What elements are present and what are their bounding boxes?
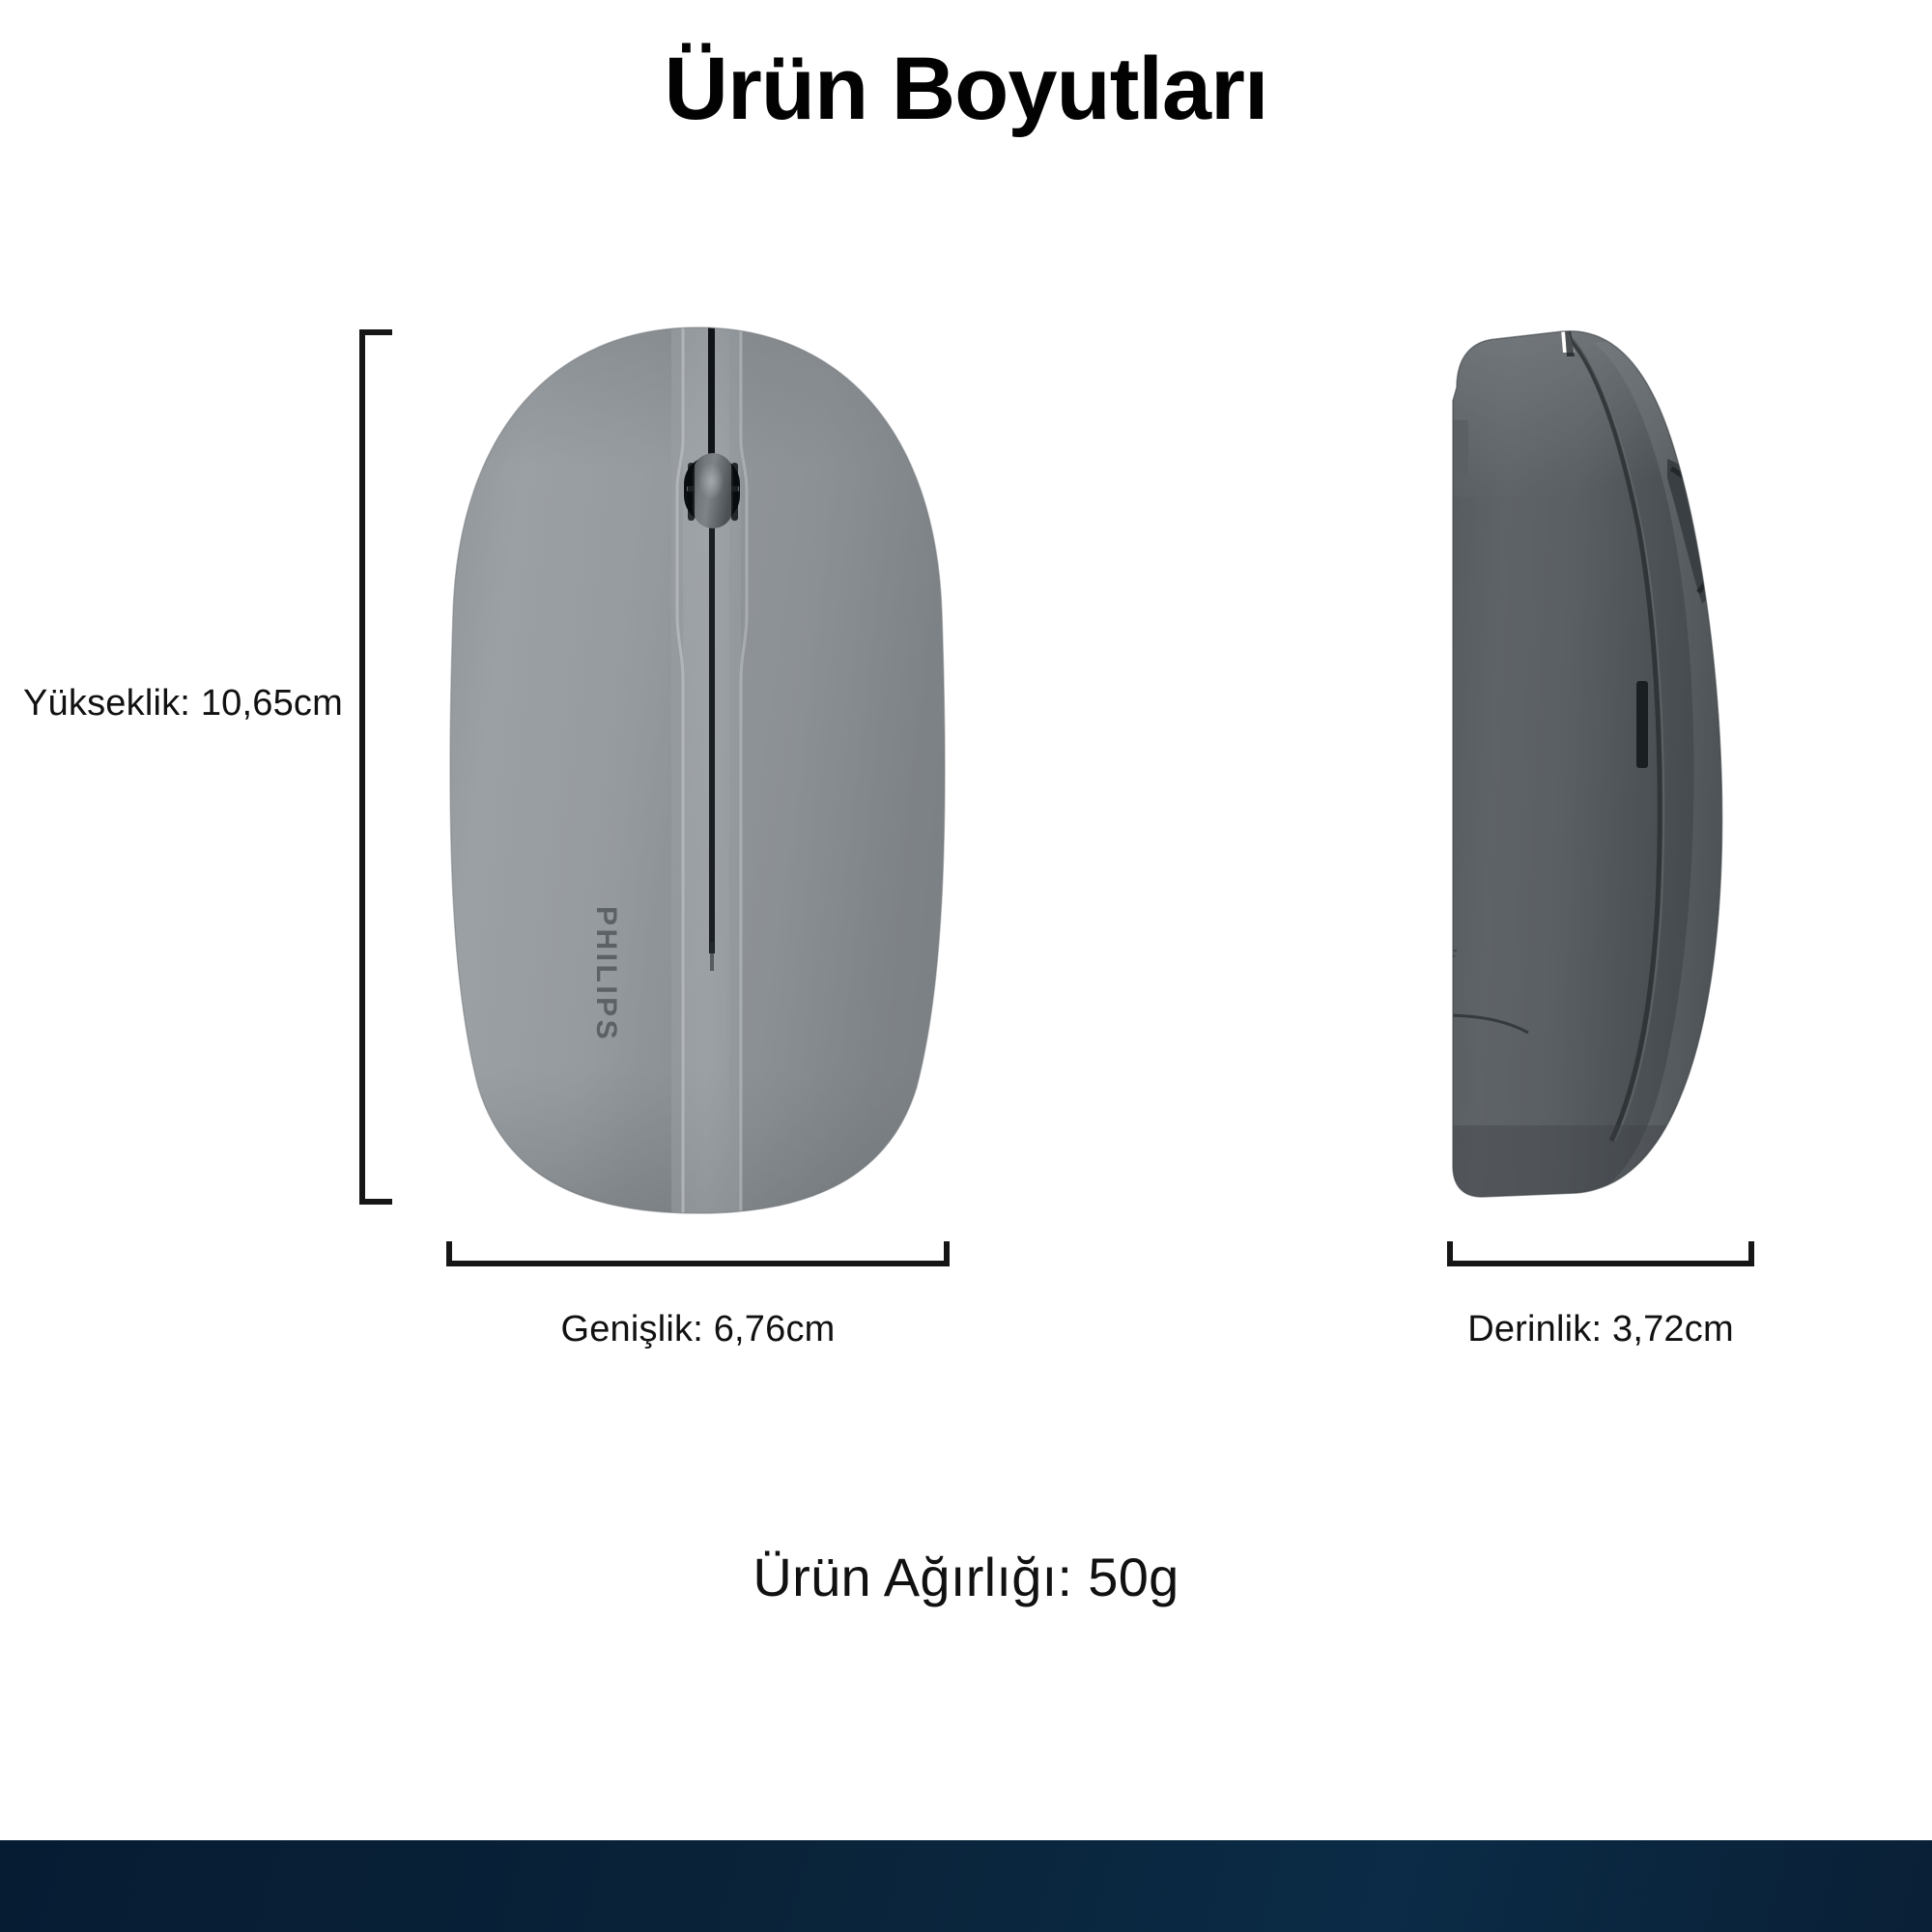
depth-measurement-bracket [1447,1241,1754,1266]
height-dimension-label: Yükseklik: 10,65cm [23,683,343,724]
mouse-top-view-image [440,324,956,1217]
mouse-side-view-image [1439,324,1768,1217]
width-measurement-bracket [446,1241,950,1266]
height-measurement-bracket [359,329,392,1205]
product-weight-label: Ürün Ağırlığı: 50g [0,1546,1932,1608]
product-dimensions-infographic: Ürün Boyutları Yükseklik: 10,65cm [0,0,1932,1932]
bottom-brand-bar [0,1840,1932,1932]
width-dimension-label: Genişlik: 6,76cm [446,1309,950,1350]
depth-dimension-label: Derinlik: 3,72cm [1447,1309,1754,1350]
page-title: Ürün Boyutları [0,39,1932,141]
